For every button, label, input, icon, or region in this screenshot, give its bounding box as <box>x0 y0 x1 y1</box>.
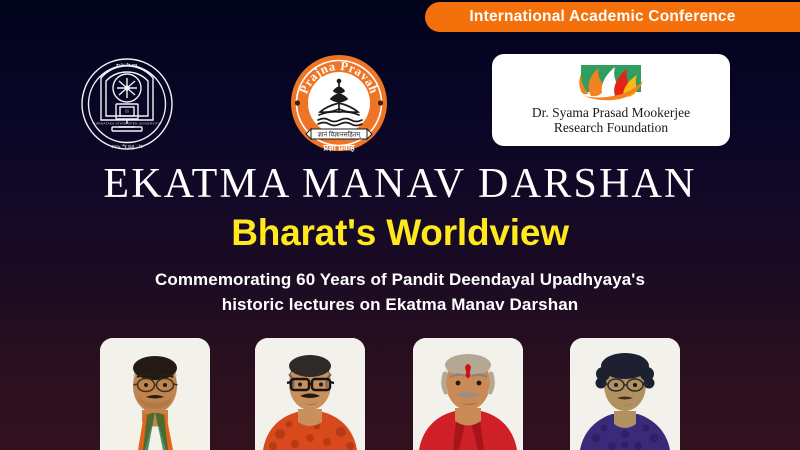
banner-label: International Academic Conference <box>469 8 735 26</box>
speaker-portrait-1 <box>100 338 210 450</box>
ksou-seal-icon: ☼ ಕರവೆಿಕ ರಾತ್ರ ೟ಿತ ಕರവೆಿಕ ರಾತ್ರ KARNATAK… <box>72 48 182 156</box>
spmrf-name-line2: Research Foundation <box>532 120 690 135</box>
speaker-photo-3 <box>413 338 523 450</box>
speaker-portrait-4 <box>570 338 680 450</box>
page-title: EKATMA MANAV DARSHAN <box>0 163 800 205</box>
spmrf-logo-card: Dr. Syama Prasad Mookerjee Research Foun… <box>492 54 730 146</box>
speaker-photo-4 <box>570 338 680 450</box>
speaker-photo-2 <box>255 338 365 450</box>
speaker-portrait-3 <box>413 338 523 450</box>
spmrf-name: Dr. Syama Prasad Mookerjee Research Foun… <box>532 105 690 135</box>
svg-text:KARNATAKA STATE OPEN UNIVERSIT: KARNATAKA STATE OPEN UNIVERSITY <box>94 122 161 126</box>
speaker-portrait-2 <box>255 338 365 450</box>
spmrf-name-line1: Dr. Syama Prasad Mookerjee <box>532 105 690 120</box>
logo-row: ☼ ಕರവೆಿಕ ರಾತ್ರ ೟ಿತ ಕರവೆಿಕ ರಾತ್ರ KARNATAK… <box>0 46 800 158</box>
conference-banner: International Academic Conference <box>425 2 800 32</box>
spmrf-flame-icon <box>555 63 667 103</box>
svg-text:ज्ञानं विज्ञानसहितम्: ज्ञानं विज्ञानसहितम् <box>318 131 361 139</box>
svg-text:☼: ☼ <box>124 108 130 115</box>
svg-text:प्रज्ञा प्रवाह: प्रज्ञा प्रवाह <box>322 143 355 153</box>
tagline: Commemorating 60 Years of Pandit Deenday… <box>0 268 800 317</box>
conference-poster: International Academic Conference <box>0 0 800 450</box>
prajna-pravah-icon: Prajna Pravah ज्ञानं विज्ञानसहितम् प्रज्… <box>285 50 393 156</box>
tagline-line-2: historic lectures on Ekatma Manav Darsha… <box>0 293 800 318</box>
ksou-seal-logo: ☼ ಕರവೆಿಕ ರಾತ್ರ ೟ಿತ ಕರവೆಿಕ ರಾತ್ರ KARNATAK… <box>72 48 182 156</box>
prajna-pravah-logo: Prajna Pravah ज्ञानं विज्ञानसहितम् प्रज्… <box>285 50 393 156</box>
page-subtitle: Bharat's Worldview <box>0 214 800 251</box>
speaker-photo-1 <box>100 338 210 450</box>
speaker-portrait-row <box>0 338 800 450</box>
tagline-line-1: Commemorating 60 Years of Pandit Deenday… <box>0 268 800 293</box>
